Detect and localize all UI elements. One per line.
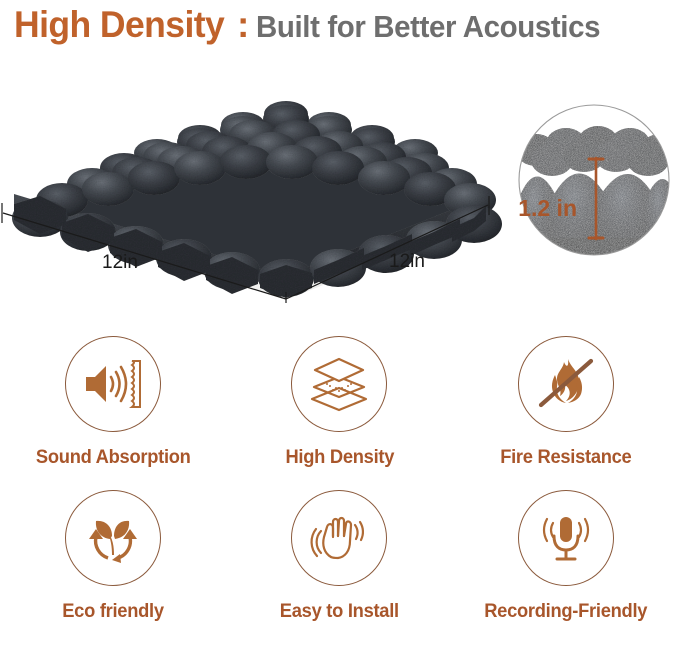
sound-absorption-icon: [82, 355, 144, 413]
feature-label: Sound Absorption: [36, 446, 191, 469]
thickness-label: 1.2 in: [518, 195, 577, 221]
page-title-primary: High Density: [14, 4, 224, 46]
feature-label: High Density: [285, 446, 394, 469]
feature-icon-circle: [518, 336, 614, 432]
feature-icon-circle: [65, 490, 161, 586]
feature-icon-circle: [291, 336, 387, 432]
easy-to-install-hand-icon: [308, 509, 370, 567]
feature-row-2: Eco friendly: [0, 490, 679, 644]
dimension-label-width: 12in: [102, 252, 138, 273]
feature-icon-circle: [291, 490, 387, 586]
thickness-inset: 1.2 in: [516, 105, 679, 256]
feature-fire-resistance[interactable]: Fire Resistance: [453, 336, 679, 490]
feature-high-density[interactable]: High Density: [226, 336, 452, 490]
page-title: High Density : Built for Better Acoustic…: [14, 4, 674, 56]
feature-label: Eco friendly: [62, 600, 164, 623]
feature-icon-circle: [518, 490, 614, 586]
high-density-layers-icon: [308, 355, 370, 413]
recording-friendly-microphone-icon: [535, 509, 597, 567]
feature-eco-friendly[interactable]: Eco friendly: [0, 490, 226, 644]
feature-label: Fire Resistance: [500, 446, 631, 469]
product-illustration: 12in 12in: [0, 78, 679, 303]
fire-resistance-icon: [535, 355, 597, 413]
feature-label: Recording-Friendly: [484, 600, 647, 623]
foam-panel: [12, 101, 502, 300]
feature-sound-absorption[interactable]: Sound Absorption: [0, 336, 226, 490]
feature-easy-to-install[interactable]: Easy to Install: [226, 490, 452, 644]
feature-icon-circle: [65, 336, 161, 432]
feature-label: Easy to Install: [280, 600, 399, 623]
page-title-secondary: Built for Better Acoustics: [256, 9, 600, 45]
page-title-separator: :: [233, 4, 256, 46]
dimension-label-depth: 12in: [389, 251, 425, 272]
feature-recording-friendly[interactable]: Recording-Friendly: [453, 490, 679, 644]
feature-row-1: Sound Absorption: [0, 336, 679, 490]
product-hero: 12in 12in: [0, 78, 679, 303]
eco-friendly-icon: [82, 509, 144, 567]
feature-grid: Sound Absorption: [0, 336, 679, 645]
